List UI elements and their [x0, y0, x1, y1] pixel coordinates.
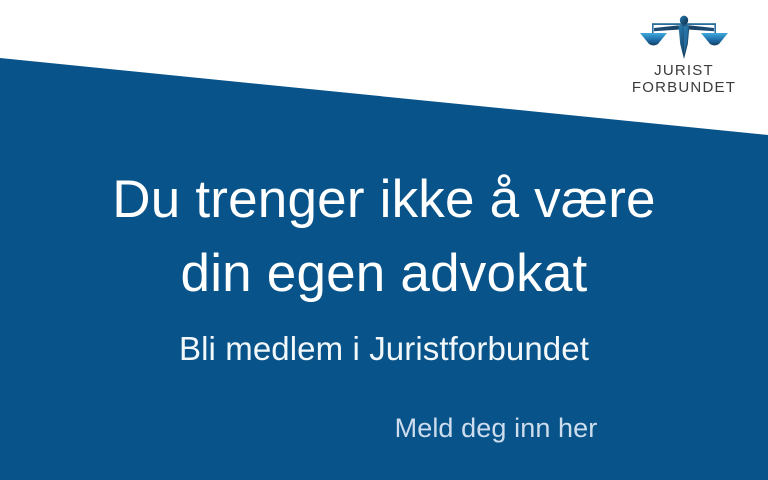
headline: Du trenger ikke å være din egen advokat: [0, 163, 768, 311]
logo-wordmark-line2: FORBUNDET: [618, 80, 750, 97]
scales-of-justice-icon: [636, 14, 732, 60]
juristforbundet-logo[interactable]: JURIST FORBUNDET: [618, 14, 750, 97]
headline-line-1: Du trenger ikke å være: [0, 163, 768, 237]
cta-container: Meld deg inn her: [0, 409, 768, 452]
advertisement-banner: JURIST FORBUNDET Du trenger ikke å være …: [0, 0, 768, 480]
logo-wordmark-line1: JURIST: [618, 63, 750, 80]
logo-wordmark: JURIST FORBUNDET: [618, 63, 750, 97]
headline-line-2: din egen advokat: [0, 237, 768, 311]
signup-link[interactable]: Meld deg inn her: [395, 409, 598, 447]
subheading: Bli medlem i Juristforbundet: [0, 328, 768, 370]
